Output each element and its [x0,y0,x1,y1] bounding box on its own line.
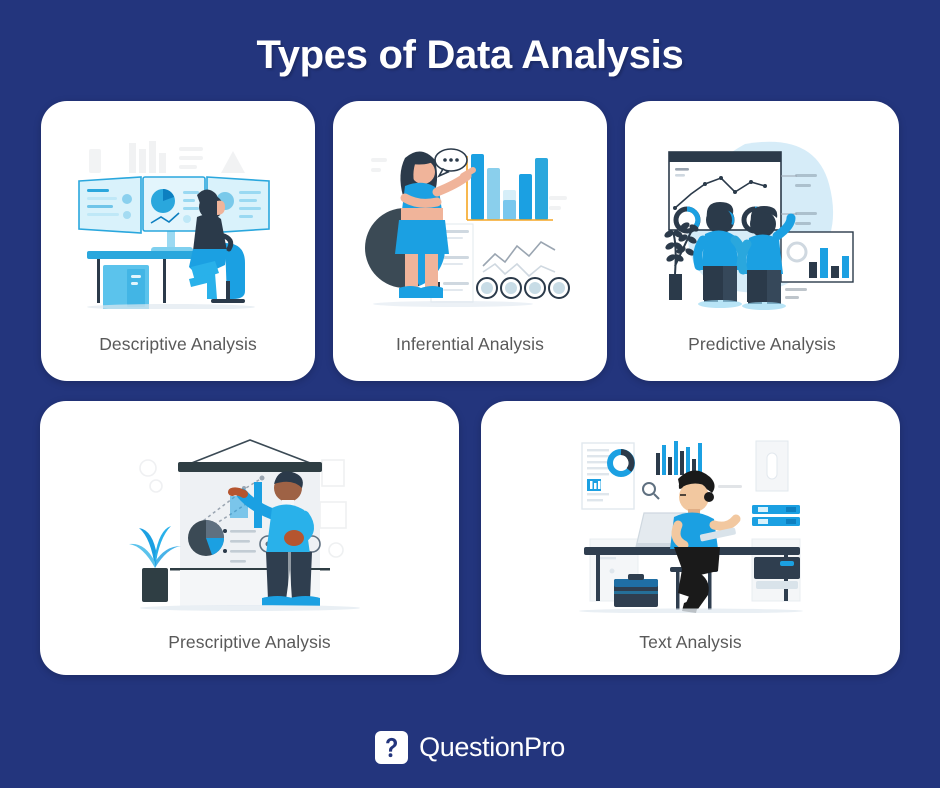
card-label: Inferential Analysis [396,330,544,381]
card-text-analysis[interactable]: Text Analysis [481,401,900,675]
questionpro-logo-icon [375,731,408,764]
question-mark-glyph [380,736,403,759]
card-label: Predictive Analysis [688,330,836,381]
card-inferential-analysis[interactable]: Inferential Analysis [333,101,607,381]
prescriptive-analysis-illustration [50,415,449,628]
cards-row-top: Descriptive Analysis [40,101,900,381]
card-label: Descriptive Analysis [99,330,257,381]
predictive-analysis-illustration [635,117,889,330]
page-title: Types of Data Analysis [257,33,684,77]
woman-presenting-charts-icon [363,136,578,311]
infographic-poster: Types of Data Analysis [0,0,940,788]
card-label: Text Analysis [639,628,741,675]
cards-row-bottom: Prescriptive Analysis [40,401,900,675]
descriptive-analysis-illustration [51,117,305,330]
presenter-projector-screen-icon [122,432,377,612]
cards-grid: Descriptive Analysis [40,101,900,675]
inferential-analysis-illustration [343,117,597,330]
desk-three-monitors-icon [71,139,286,309]
person-desk-laptop-icon [566,431,816,613]
card-prescriptive-analysis[interactable]: Prescriptive Analysis [40,401,459,675]
card-predictive-analysis[interactable]: Predictive Analysis [625,101,899,381]
card-descriptive-analysis[interactable]: Descriptive Analysis [41,101,315,381]
text-analysis-illustration [491,415,890,628]
two-people-dashboard-icon [655,136,870,311]
brand-name: QuestionPro [419,732,565,763]
footer-brand[interactable]: QuestionPro [0,731,940,764]
card-label: Prescriptive Analysis [168,628,331,675]
